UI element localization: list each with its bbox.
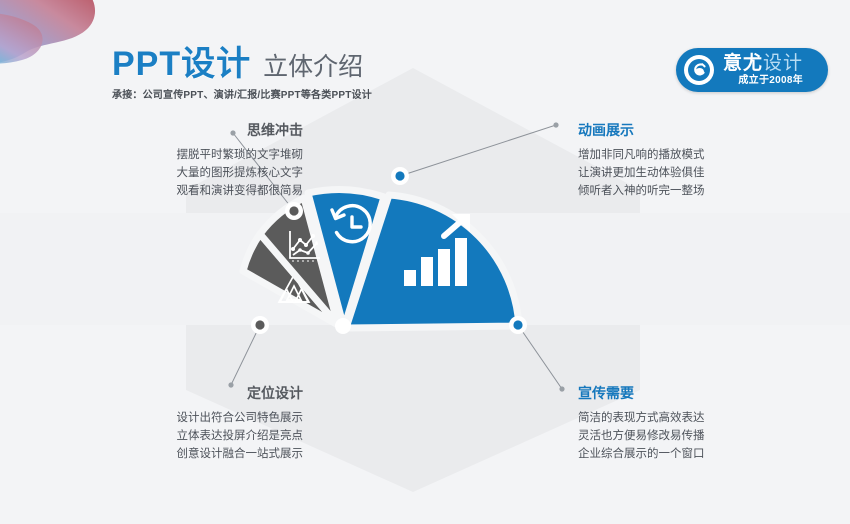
callout-line: 观看和演讲变得都很简易 (88, 182, 303, 200)
callout-line: 简洁的表现方式高效表达 (578, 409, 796, 427)
callout-title: 宣传需要 (578, 383, 796, 403)
logo-since: 成立于2008年 (723, 76, 803, 86)
callout-bottom-right: 宣传需要 简洁的表现方式高效表达 灵活也方便易修改易传播 企业综合展示的一个窗口 (578, 383, 796, 463)
callout-line: 创意设计融合一站式展示 (85, 445, 303, 463)
slide-stage: PPT设计 立体介绍 承接：公司宣传PPT、演讲/汇报/比赛PPT等各类PPT设… (0, 0, 850, 524)
callout-top-right: 动画展示 增加非同凡响的播放模式 让演讲更加生动体验俱佳 倾听者入神的听完一整场 (578, 120, 793, 200)
brand-logo[interactable]: 意尤设计 成立于2008年 (676, 48, 828, 92)
callout-title: 动画展示 (578, 120, 793, 140)
mouse-logo-icon (684, 55, 714, 85)
callout-line: 增加非同凡响的播放模式 (578, 146, 793, 164)
logo-text: 意尤设计 成立于2008年 (723, 54, 803, 86)
callout-line: 企业综合展示的一个窗口 (578, 445, 796, 463)
logo-name-dim: 设计 (763, 53, 803, 74)
callout-line: 灵活也方便易修改易传播 (578, 427, 796, 445)
callout-top-left: 思维冲击 摆脱平时繁琐的文字堆砌 大量的图形提炼核心文字 观看和演讲变得都很简易 (88, 120, 303, 200)
page-title: PPT设计 立体介绍 (112, 47, 363, 81)
logo-name-strong: 意尤 (723, 53, 763, 74)
callout-title: 定位设计 (85, 383, 303, 403)
title-note: 承接：公司宣传PPT、演讲/汇报/比赛PPT等各类PPT设计 (112, 86, 372, 101)
logo-name: 意尤设计 (723, 54, 803, 73)
callout-bottom-left: 定位设计 设计出符合公司特色展示 立体表达投屏介绍是亮点 创意设计融合一站式展示 (85, 383, 303, 463)
callout-line: 立体表达投屏介绍是亮点 (85, 427, 303, 445)
callout-line: 倾听者入神的听完一整场 (578, 182, 793, 200)
title-subtitle: 立体介绍 (263, 55, 363, 80)
title-main: PPT设计 (112, 47, 251, 81)
callout-line: 让演讲更加生动体验俱佳 (578, 164, 793, 182)
callout-line: 设计出符合公司特色展示 (85, 409, 303, 427)
callout-line: 摆脱平时繁琐的文字堆砌 (88, 146, 303, 164)
callout-title: 思维冲击 (88, 120, 303, 140)
callout-line: 大量的图形提炼核心文字 (88, 164, 303, 182)
